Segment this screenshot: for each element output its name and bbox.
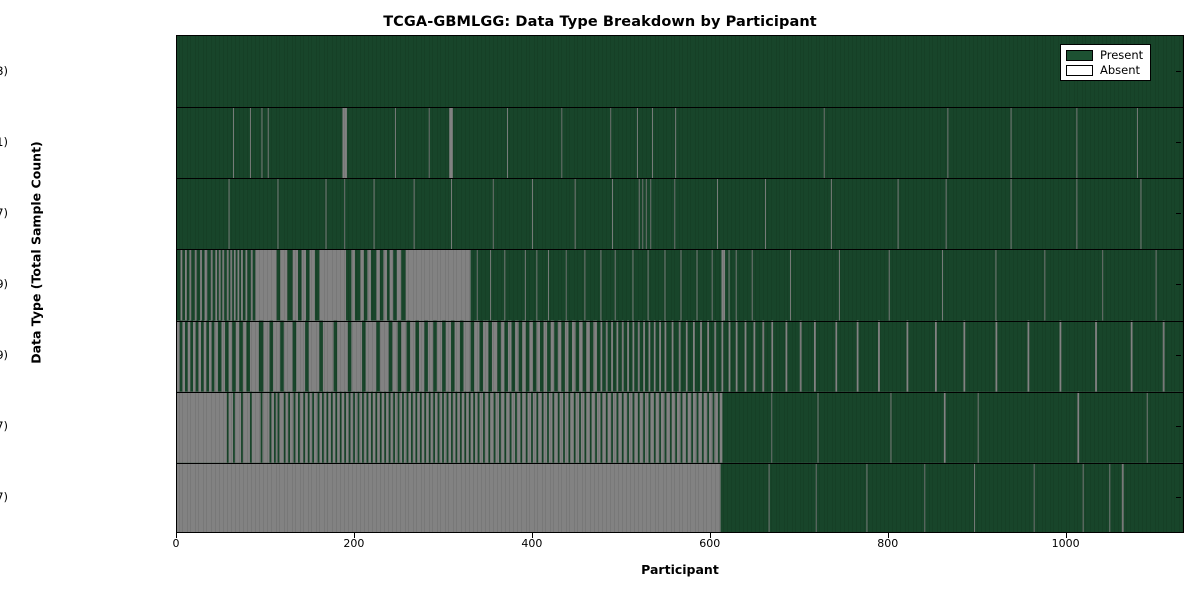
y-tick-mark [1176,497,1181,498]
page-title: TCGA-GBMLGG: Data Type Breakdown by Part… [0,14,1200,30]
x-tick-mark [1066,533,1067,538]
y-tick-label-bcr: BCR (1133) [0,64,8,78]
x-tick-mark [176,533,177,538]
legend-label-absent: Absent [1100,64,1140,76]
y-tick-label-mrna: mRNA (677) [0,419,8,433]
x-tick-label-400: 400 [472,537,592,550]
x-tick-mark [888,533,889,538]
x-axis-label: Participant [176,562,1184,577]
y-tick-label-methylation: Methylation (939) [0,277,8,291]
y-tick-mark [1176,284,1181,285]
legend-item-absent: Absent [1066,64,1143,76]
y-tick-mark [1176,213,1181,214]
x-tick-label-1000: 1000 [1006,537,1126,550]
heatmap-canvas [177,36,1184,533]
x-tick-label-600: 600 [650,537,770,550]
legend: Present Absent [1060,44,1151,81]
x-tick-mark [710,533,711,538]
y-tick-label-maf: MAF (909) [0,348,8,362]
y-tick-label-cn: CN (1107) [0,206,8,220]
legend-swatch-present [1066,50,1093,61]
y-axis-label: Data Type (Total Sample Count) [29,3,44,503]
x-tick-label-0: 0 [116,537,236,550]
heatmap-plot-area [176,35,1184,533]
y-tick-mark [1176,71,1181,72]
legend-label-present: Present [1100,49,1143,61]
y-tick-mark [1176,426,1181,427]
legend-swatch-absent [1066,65,1093,76]
x-tick-label-200: 200 [294,537,414,550]
x-tick-label-800: 800 [828,537,948,550]
x-tick-mark [354,533,355,538]
legend-item-present: Present [1066,49,1143,61]
y-tick-mark [1176,355,1181,356]
y-tick-mark [1176,142,1181,143]
y-tick-label-mir: miR (517) [0,490,8,504]
chart-figure: TCGA-GBMLGG: Data Type Breakdown by Part… [0,0,1200,600]
x-tick-mark [532,533,533,538]
y-tick-label-clinical: Clinical (1111) [0,135,8,149]
